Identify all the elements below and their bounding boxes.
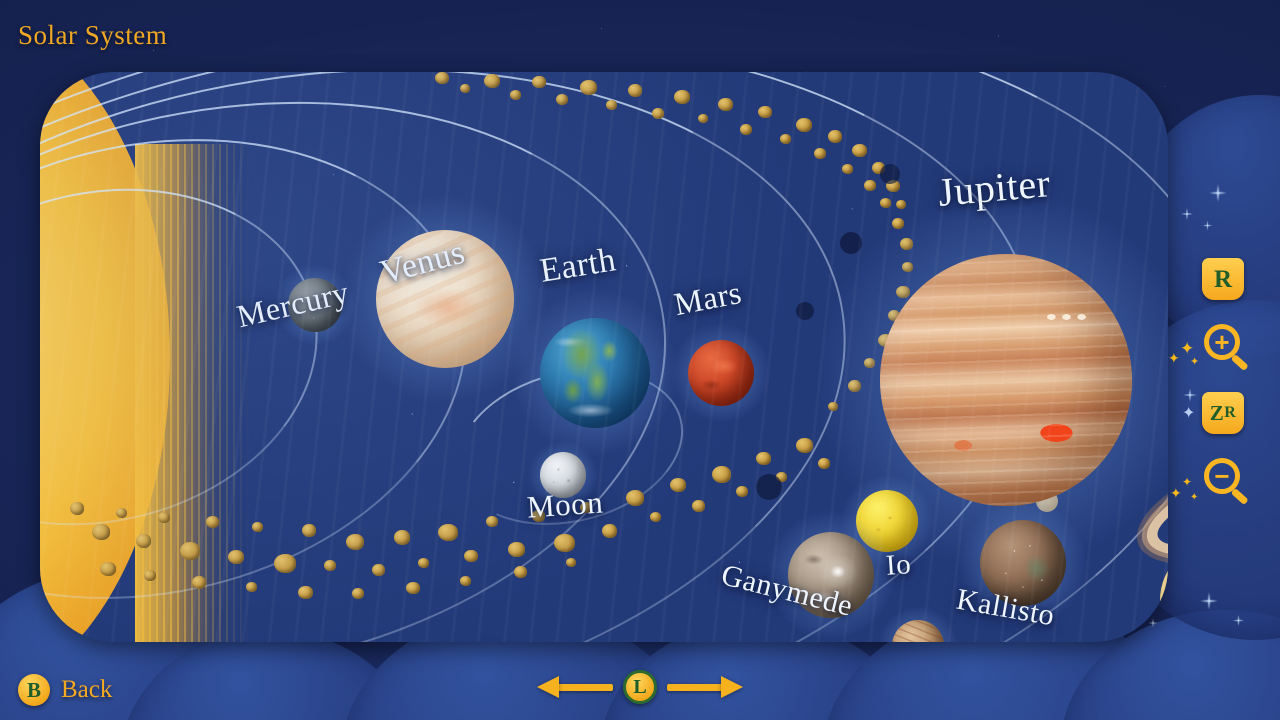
planet-disc [880,254,1132,506]
planet-disc [540,318,650,428]
sun-corona [135,144,250,642]
pan-control[interactable]: L [537,670,743,704]
back-label: Back [61,676,112,704]
dark-dot [880,164,900,184]
zoom-controls: R ✦ ✦ ✦ + ZR ✦ ✦ ✦ ✦ [1174,258,1270,522]
zoom-out-control[interactable]: ZR ✦ [1174,392,1270,462]
button-zr[interactable]: ZR [1202,392,1244,434]
minus-sign: − [1212,466,1232,486]
label-io: Io [885,548,912,583]
magnifier-handle [1231,354,1249,371]
zoom-out-icon-row[interactable]: ✦ ✦ ✦ − [1174,462,1270,522]
planet-disc [892,620,944,642]
planet-earth[interactable] [540,318,650,428]
planet-disc [688,340,754,406]
arrow-head [537,676,559,698]
label-jupiter: Jupiter [936,159,1052,216]
magnifier-handle [1231,488,1249,505]
button-b[interactable]: B [18,674,50,706]
bottom-control-bar: B Back L [0,648,1280,720]
button-zr-main: Z [1210,403,1225,424]
dark-dot [796,302,814,320]
arrow-right-icon[interactable] [667,676,743,698]
button-l-stick[interactable]: L [623,670,657,704]
label-moon: Moon [526,484,604,525]
label-earth: Earth [537,241,618,290]
zoom-in-control[interactable]: R [1174,258,1270,328]
arrow-shaft [557,684,613,691]
button-zr-sub: R [1224,405,1236,421]
page-title: Solar System [18,20,167,51]
arrow-shaft [667,684,723,691]
magnifier-plus-icon[interactable]: + [1204,324,1250,370]
planet-mars[interactable] [688,340,754,406]
label-mars: Mars [671,274,745,323]
solar-system-illustration[interactable]: Mercury Venus Earth Moon Mars Asteroid b… [40,72,1168,642]
label-asteroid-belt: Asteroid belt [338,641,503,642]
planet-jupiter[interactable] [880,254,1132,506]
arrow-head [721,676,743,698]
moon-europa[interactable] [892,620,944,642]
dark-dot [840,232,862,254]
dark-dot [756,474,782,500]
plus-sign: + [1212,332,1232,352]
app-root: Solar System [0,0,1280,720]
zoom-in-icon-row[interactable]: ✦ ✦ ✦ + [1174,328,1270,392]
back-button[interactable]: B Back [18,674,112,706]
magnifier-minus-icon[interactable]: − [1204,458,1250,504]
arrow-left-icon[interactable] [537,676,613,698]
button-r[interactable]: R [1202,258,1244,300]
